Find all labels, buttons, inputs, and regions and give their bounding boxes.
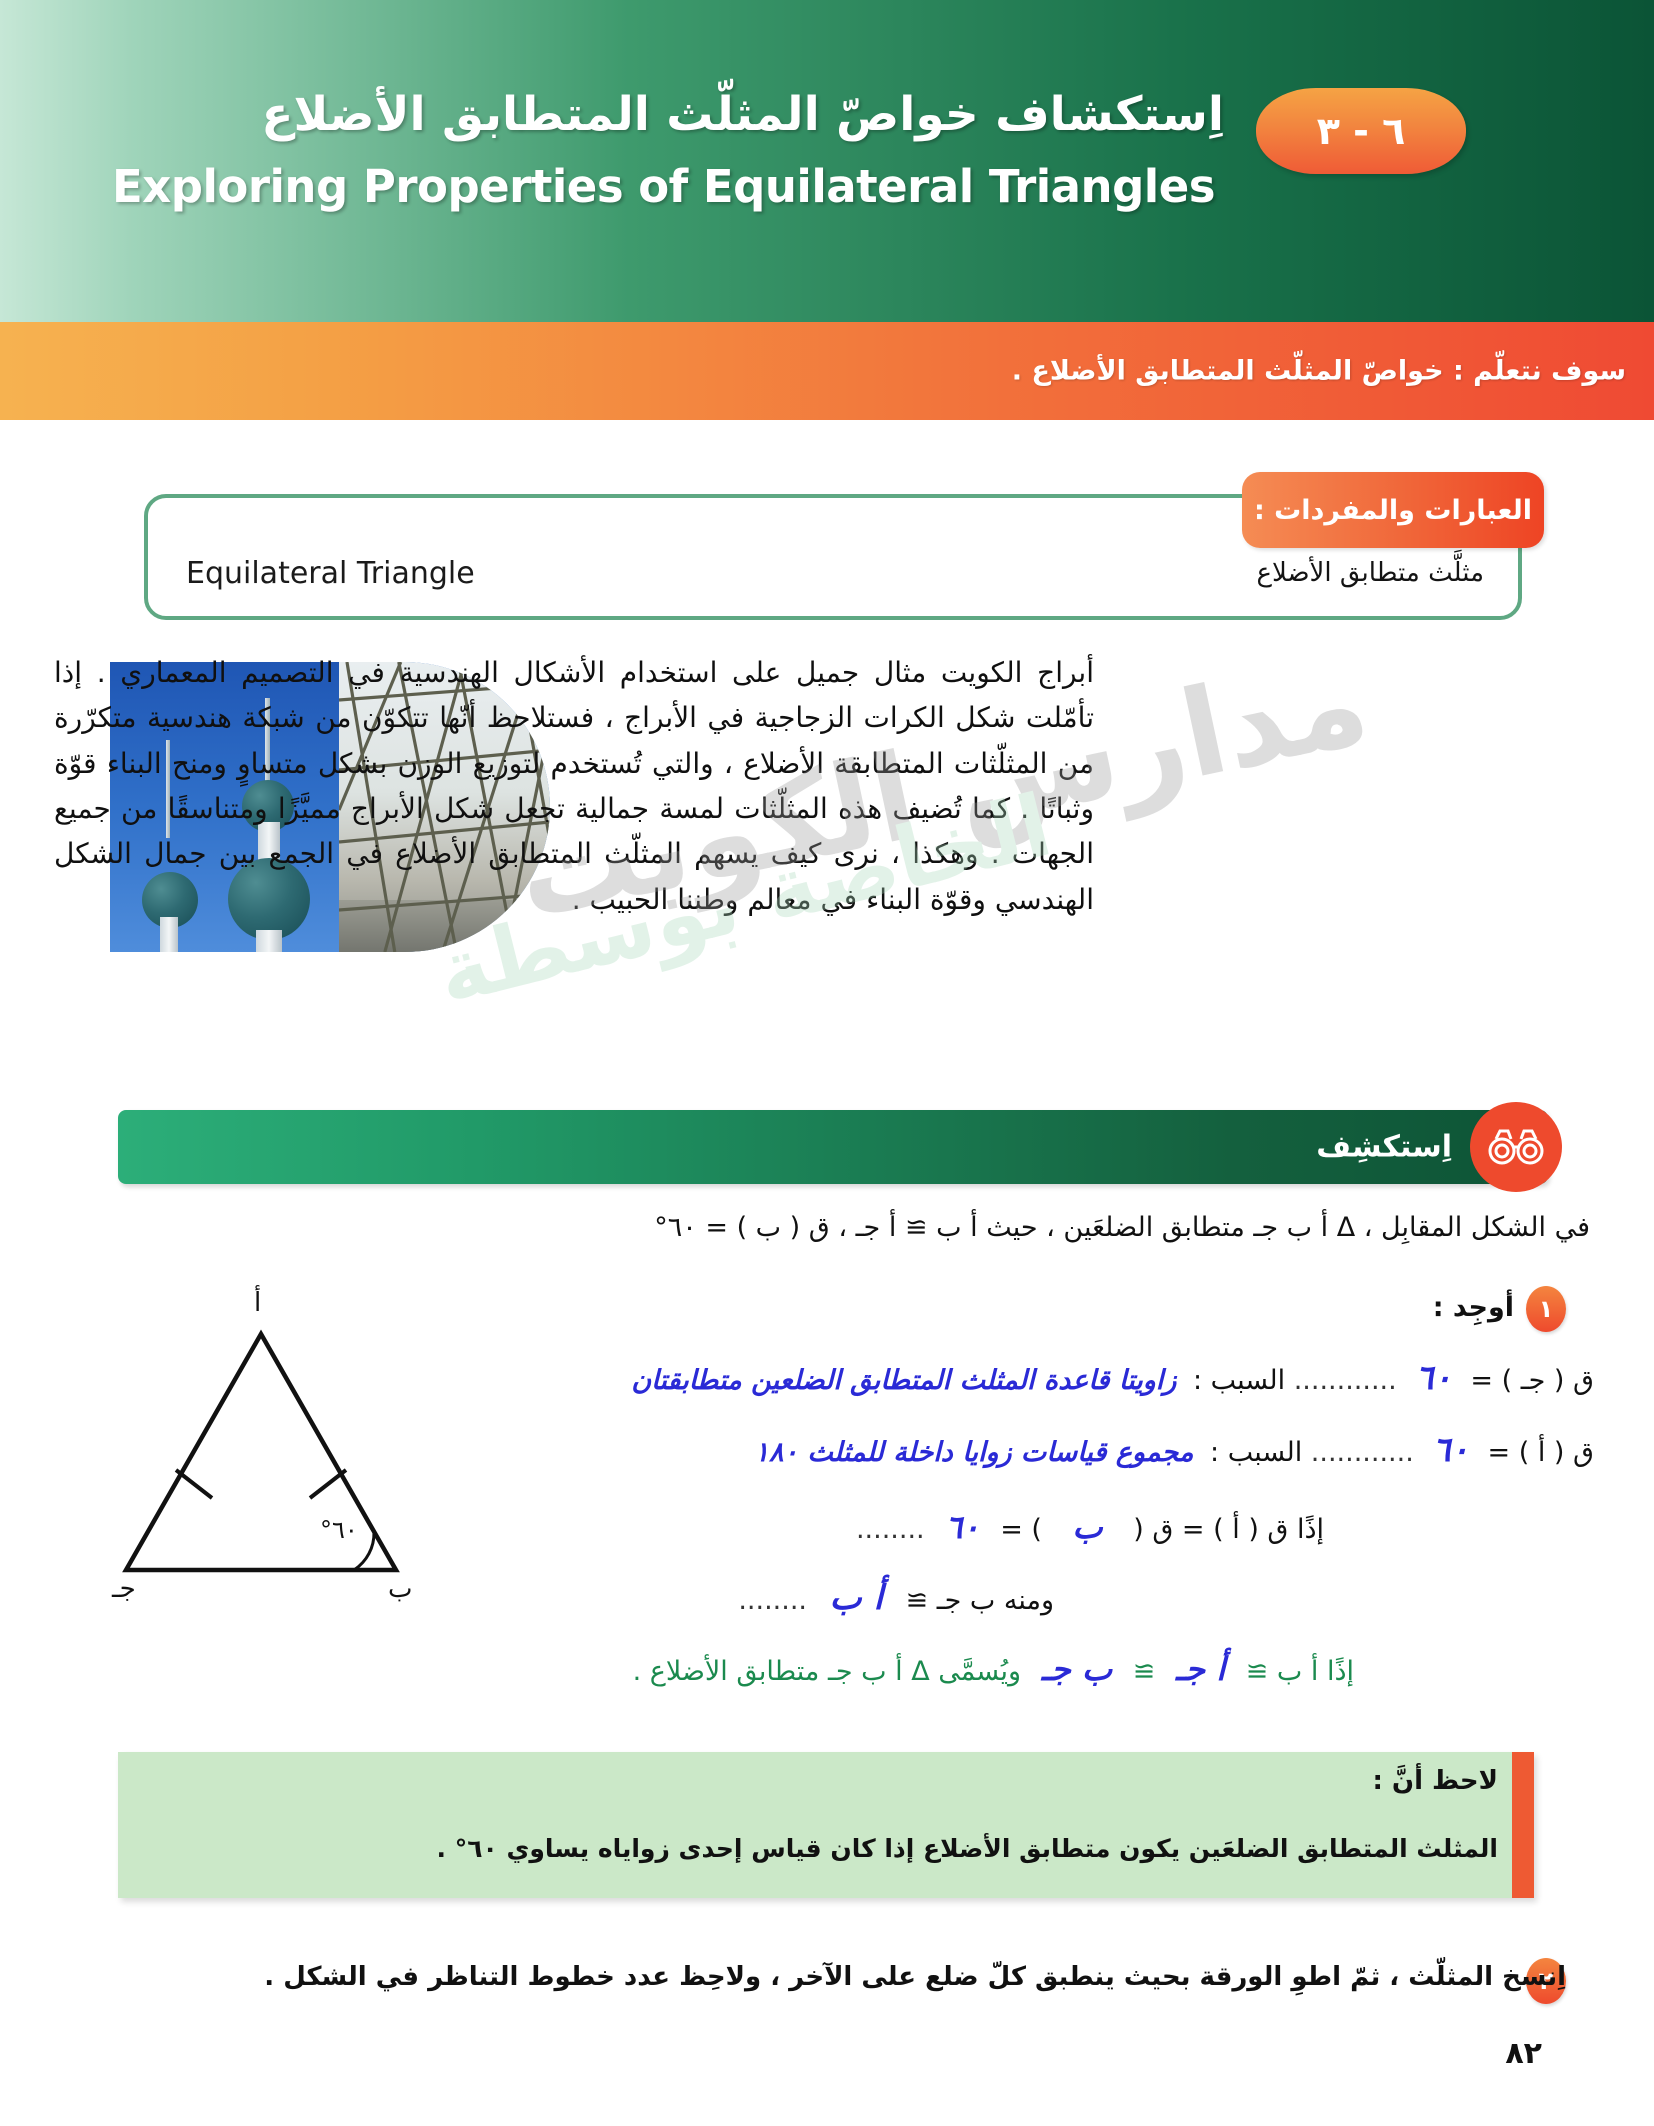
row1-lhs: ﻕ ( جـ ) = — [1470, 1365, 1594, 1396]
objective-band: سوف نتعلّم : خواصّ المثلّث المتطابق الأض… — [0, 322, 1654, 420]
vocabulary-tag-label: العبارات والمفردات : — [1242, 472, 1544, 548]
note-title: لاحظ أنَّ : — [1372, 1766, 1498, 1796]
lesson-title-english: Exploring Properties of Equilateral Tria… — [112, 160, 1215, 213]
row2-lhs: ﻕ ( أ ) = — [1488, 1437, 1594, 1468]
row2-reason-label: السبب : — [1210, 1437, 1302, 1468]
row1-reason-label: السبب : — [1193, 1365, 1285, 1396]
worksheet-row-1: ﻕ ( جـ ) = ٦٠ ............ السبب : زاويت… — [623, 1358, 1594, 1398]
row3-answer-2[interactable]: ٦٠ — [933, 1508, 991, 1546]
row3-mid: ) = — [1000, 1514, 1042, 1545]
row4-prefix: ومنه ب جـ ≅ — [905, 1585, 1054, 1616]
row3-answer-1[interactable]: ﺏ — [1051, 1508, 1125, 1546]
worksheet-row-3: إذًا ﻕ ( أ ) = ﻕ ( ﺏ ) = ٦٠ ........ — [856, 1508, 1324, 1546]
worksheet-row-5: إذًا أ ب ≅ أ جـ ≅ ب جـ ويُسمَّى Δ أ ب جـ… — [633, 1650, 1354, 1688]
objective-text: سوف نتعلّم : خواصّ المثلّث المتطابق الأض… — [1012, 356, 1626, 387]
row2-blank[interactable]: ............ — [1311, 1437, 1414, 1468]
problem-statement: في الشكل المقابِل ، ‏Δ‏ أ ب جـ متطابق ال… — [260, 1212, 1590, 1243]
triangle-diagram: أ جـ ب ٦٠° — [96, 1280, 426, 1620]
row2-answer[interactable]: ٦٠ — [1422, 1430, 1479, 1470]
vertex-label-left: جـ — [112, 1574, 136, 1604]
binoculars-icon — [1470, 1102, 1562, 1192]
row1-blank[interactable]: ............ — [1294, 1365, 1397, 1396]
row2-reason-answer[interactable]: مجموع قياسات زوايا داخلة للمثلث ١٨٠ — [747, 1437, 1202, 1468]
page-header-band: ٦ - ٣ اِستكشاف خواصّ المثلّث المتطابق ال… — [0, 0, 1654, 322]
note-text: المثلث المتطابق الضلعَين يكون متطابق الأ… — [437, 1834, 1498, 1863]
row5-answer-2[interactable]: ب جـ — [1030, 1650, 1124, 1688]
row3-prefix: إذًا ﻕ ( أ ) = ﻕ ( — [1133, 1514, 1324, 1545]
vocabulary-term-english: Equilateral Triangle — [186, 556, 475, 591]
note-flag-marker — [1512, 1752, 1534, 1898]
worksheet-row-2: ﻕ ( أ ) = ٦٠ ............ السبب : مجموع … — [747, 1430, 1595, 1470]
vertex-label-top: أ — [254, 1288, 261, 1318]
row3-blank[interactable]: ........ — [856, 1514, 925, 1545]
problem-statement-text: في الشكل المقابِل ، ‏Δ‏ أ ب جـ متطابق ال… — [654, 1212, 1590, 1243]
page-number: ٨٢ — [1505, 2036, 1542, 2071]
item-1-number: ١ — [1526, 1286, 1566, 1332]
row5-answer-1[interactable]: أ جـ — [1164, 1650, 1237, 1688]
tick-mark-left — [176, 1470, 212, 1498]
item-1-label: أوجِد : — [1433, 1292, 1514, 1323]
explore-label: اِستكشِف — [1316, 1130, 1452, 1165]
vocabulary-term-arabic: مثلَّث متطابق الأضلاع — [1256, 558, 1484, 588]
item-2-text: اِنسخ المثلّث ، ثمّ اطوِ الورقة بحيث ينط… — [110, 1962, 1566, 1992]
body-paragraph: أبراج الكويت مثال جميل على استخدام الأشك… — [54, 650, 1094, 922]
lesson-title-arabic: اِستكشاف خواصّ المثلّث المتطابق الأضلاع — [100, 86, 1224, 145]
row4-blank[interactable]: ........ — [738, 1585, 807, 1616]
row1-reason-answer[interactable]: زاويتا قاعدة المثلث المتطابق الضلعين متط… — [623, 1365, 1184, 1396]
row5-mid: ≅ — [1133, 1656, 1156, 1687]
row4-answer[interactable]: أ ب — [816, 1578, 897, 1618]
tower-shaft-small — [160, 917, 178, 952]
angle-measure-label: ٦٠° — [320, 1516, 358, 1544]
tower-base-main — [256, 930, 282, 952]
row5-suffix: ويُسمَّى Δ أ ب جـ متطابق الأضلاع . — [633, 1656, 1022, 1687]
vocabulary-section: العبارات والمفردات : مثلَّث متطابق الأضل… — [144, 472, 1544, 620]
row5-prefix: إذًا أ ب ≅ — [1246, 1656, 1354, 1687]
worksheet-row-4: ومنه ب جـ ≅ أ ب ........ — [738, 1578, 1054, 1618]
explore-banner: اِستكشِف — [118, 1110, 1548, 1184]
row1-answer[interactable]: ٦٠ — [1405, 1358, 1462, 1398]
note-box: لاحظ أنَّ : المثلث المتطابق الضلعَين يكو… — [118, 1752, 1534, 1898]
tick-mark-right — [310, 1470, 346, 1498]
vertex-label-right: ب — [388, 1574, 412, 1604]
lesson-number-badge: ٦ - ٣ — [1256, 88, 1466, 174]
